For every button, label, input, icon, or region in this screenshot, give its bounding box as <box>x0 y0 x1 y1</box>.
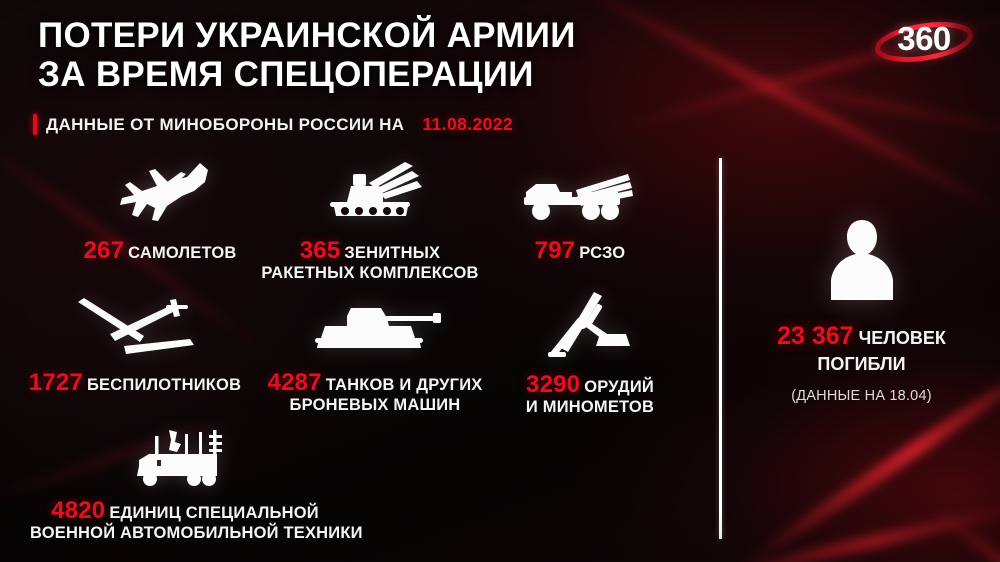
stat-planes-number: 267 <box>83 237 124 264</box>
stat-air-defence-number: 365 <box>300 237 341 264</box>
mlrs-truck-icon-wrap <box>470 158 690 224</box>
casualties-label-1: ЧЕЛОВЕК <box>859 328 946 348</box>
logo-text: 360 <box>870 8 978 70</box>
stat-tanks-label-2: БРОНЕВЫХ МАШИН <box>250 395 500 416</box>
stat-military-vehicles-number: 4820 <box>51 497 105 524</box>
stat-drones-caption: 1727БЕСПИЛОТНИКОВ <box>10 372 260 396</box>
military-truck-icon-wrap <box>30 428 340 488</box>
stat-artillery-caption: 3290ОРУДИЙ И МИНОМЕТОВ <box>495 374 685 418</box>
casualties-number: 23 367 <box>777 322 853 350</box>
stat-tanks-caption: 4287ТАНКОВ И ДРУГИХ БРОНЕВЫХ МАШИН <box>250 372 500 416</box>
casualties-label-2: ПОГИБЛИ <box>723 352 1000 377</box>
casualties-figure: 23 367ЧЕЛОВЕК ПОГИБЛИ <box>723 324 1000 377</box>
fighter-jet-icon <box>108 160 212 224</box>
person-silhouette-icon-wrap <box>723 216 1000 300</box>
tank-icon <box>307 302 443 358</box>
stat-military-vehicles: 4820ЕДИНИЦ СПЕЦИАЛЬНОЙ ВОЕННОЙ АВТОМОБИЛ… <box>30 428 340 544</box>
stat-air-defence-label-2: РАКЕТНЫХ КОМПЛЕКСОВ <box>248 263 492 284</box>
stat-planes-caption: 267САМОЛЕТОВ <box>40 240 280 264</box>
stat-tanks-number: 4287 <box>268 369 322 396</box>
stat-military-vehicles-label-2: ВОЕННОЙ АВТОМОБИЛЬНОЙ ТЕХНИКИ <box>30 523 340 544</box>
red-accent-bar <box>33 114 37 135</box>
stat-artillery: 3290ОРУДИЙ И МИНОМЕТОВ <box>495 290 685 418</box>
stat-artillery-label-2: И МИНОМЕТОВ <box>495 397 685 418</box>
stat-air-defence-label-1: ЗЕНИТНЫХ <box>344 244 440 262</box>
fighter-jet-icon-wrap <box>40 158 280 224</box>
stat-drones-number: 1727 <box>29 369 83 396</box>
drone-icon <box>70 296 200 358</box>
stat-planes-label: САМОЛЕТОВ <box>128 244 236 262</box>
stat-drones: 1727БЕСПИЛОТНИКОВ <box>10 296 260 396</box>
stat-artillery-label-1: ОРУДИЙ <box>584 378 654 396</box>
sam-launcher-icon-wrap <box>248 158 492 224</box>
tank-icon-wrap <box>250 300 500 358</box>
stat-military-vehicles-caption: 4820ЕДИНИЦ СПЕЦИАЛЬНОЙ ВОЕННОЙ АВТОМОБИЛ… <box>30 500 340 544</box>
stat-tanks: 4287ТАНКОВ И ДРУГИХ БРОНЕВЫХ МАШИН <box>250 300 500 416</box>
title-line-2: ЗА ВРЕМЯ СПЕЦОПЕРАЦИИ <box>38 55 658 94</box>
report-date: 11.08.2022 <box>422 114 513 135</box>
stat-military-vehicles-label-1: ЕДИНИЦ СПЕЦИАЛЬНОЙ <box>109 504 319 522</box>
stat-tanks-label-1: ТАНКОВ И ДРУГИХ <box>326 376 483 394</box>
mortar-icon <box>542 290 638 362</box>
stat-mlrs-caption: 797РСЗО <box>470 240 690 264</box>
stat-air-defence-caption: 365ЗЕНИТНЫХ РАКЕТНЫХ КОМПЛЕКСОВ <box>248 240 492 284</box>
channel-logo: 360 <box>870 8 978 70</box>
section-divider <box>719 158 722 539</box>
drone-icon-wrap <box>10 296 260 358</box>
mortar-icon-wrap <box>495 290 685 362</box>
stat-mlrs-label: РСЗО <box>579 244 625 262</box>
infographic-root: ПОТЕРИ УКРАИНСКОЙ АРМИИ ЗА ВРЕМЯ СПЕЦОПЕ… <box>0 0 1000 562</box>
subtitle-text: ДАННЫЕ ОТ МИНОБОРОНЫ РОССИИ НА <box>46 115 404 135</box>
stat-mlrs-number: 797 <box>535 237 576 264</box>
title-line-1: ПОТЕРИ УКРАИНСКОЙ АРМИИ <box>38 16 576 55</box>
stat-artillery-number: 3290 <box>526 371 580 398</box>
stat-air-defence: 365ЗЕНИТНЫХ РАКЕТНЫХ КОМПЛЕКСОВ <box>248 158 492 284</box>
casualties-note: (данные на 18.04) <box>723 388 1000 404</box>
stat-mlrs: 797РСЗО <box>470 158 690 264</box>
military-truck-icon <box>125 428 245 488</box>
subtitle-row: ДАННЫЕ ОТ МИНОБОРОНЫ РОССИИ НА 11.08.202… <box>33 114 513 135</box>
stat-planes: 267САМОЛЕТОВ <box>40 158 280 264</box>
person-silhouette-icon <box>825 216 899 300</box>
casualties-panel: 23 367ЧЕЛОВЕК ПОГИБЛИ (данные на 18.04) <box>723 216 1000 404</box>
page-title: ПОТЕРИ УКРАИНСКОЙ АРМИИ ЗА ВРЕМЯ СПЕЦОПЕ… <box>38 16 658 94</box>
stat-drones-label: БЕСПИЛОТНИКОВ <box>87 376 241 394</box>
mlrs-truck-icon <box>520 168 640 224</box>
sam-launcher-icon <box>317 160 423 224</box>
